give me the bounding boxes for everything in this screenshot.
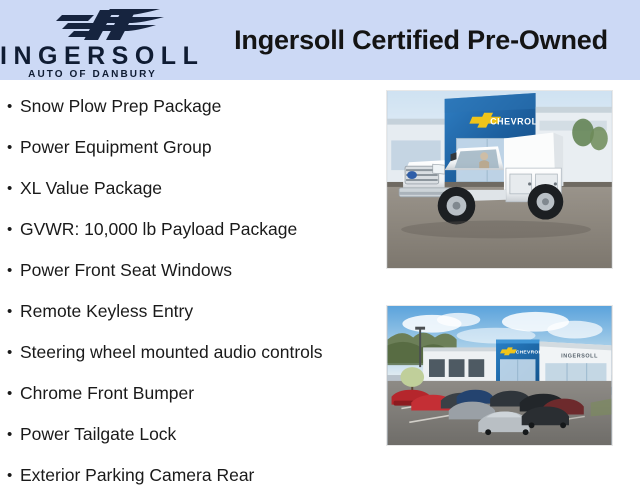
brand-logo: INGERSOLL AUTO OF DANBURY (0, 2, 200, 80)
list-item: Power Tailgate Lock (0, 414, 380, 455)
list-item: GVWR: 10,000 lb Payload Package (0, 209, 380, 250)
feature-label: Power Front Seat Windows (20, 260, 232, 280)
feature-label: Power Equipment Group (20, 137, 212, 157)
brand-name: INGERSOLL (0, 44, 188, 69)
dealership-photo[interactable]: CHEVROLET INGERSOLL (386, 305, 613, 446)
list-item: Chrome Front Bumper (0, 373, 380, 414)
feature-label: Remote Keyless Entry (20, 301, 193, 321)
brand-tagline: AUTO OF DANBURY (0, 70, 185, 80)
list-item: Power Equipment Group (0, 127, 380, 168)
feature-label: Snow Plow Prep Package (20, 96, 221, 116)
list-item: Remote Keyless Entry (0, 291, 380, 332)
feature-label: XL Value Package (20, 178, 162, 198)
feature-label: Steering wheel mounted audio controls (20, 342, 323, 362)
svg-text:INGERSOLL: INGERSOLL (561, 353, 598, 359)
feature-label: Power Tailgate Lock (20, 424, 176, 444)
features-list: Snow Plow Prep Package Power Equipment G… (0, 86, 380, 496)
feature-label: Exterior Parking Camera Rear (20, 465, 254, 485)
list-item: Steering wheel mounted audio controls (0, 332, 380, 373)
vehicle-photo-illustration: CHEVROLET (387, 91, 612, 268)
list-item: Exterior Parking Camera Rear (0, 455, 380, 496)
list-item: XL Value Package (0, 168, 380, 209)
page-title: Ingersoll Certified Pre-Owned (206, 25, 636, 56)
feature-label: Chrome Front Bumper (20, 383, 194, 403)
feature-label: GVWR: 10,000 lb Payload Package (20, 219, 297, 239)
list-item: Power Front Seat Windows (0, 250, 380, 291)
list-item: Snow Plow Prep Package (0, 86, 380, 127)
vehicle-photo[interactable]: CHEVROLET (386, 90, 613, 269)
dealership-photo-illustration: CHEVROLET INGERSOLL (387, 306, 612, 445)
page-header: INGERSOLL AUTO OF DANBURY Ingersoll Cert… (0, 0, 640, 80)
ingersoll-wing-emblem-icon (48, 6, 166, 42)
